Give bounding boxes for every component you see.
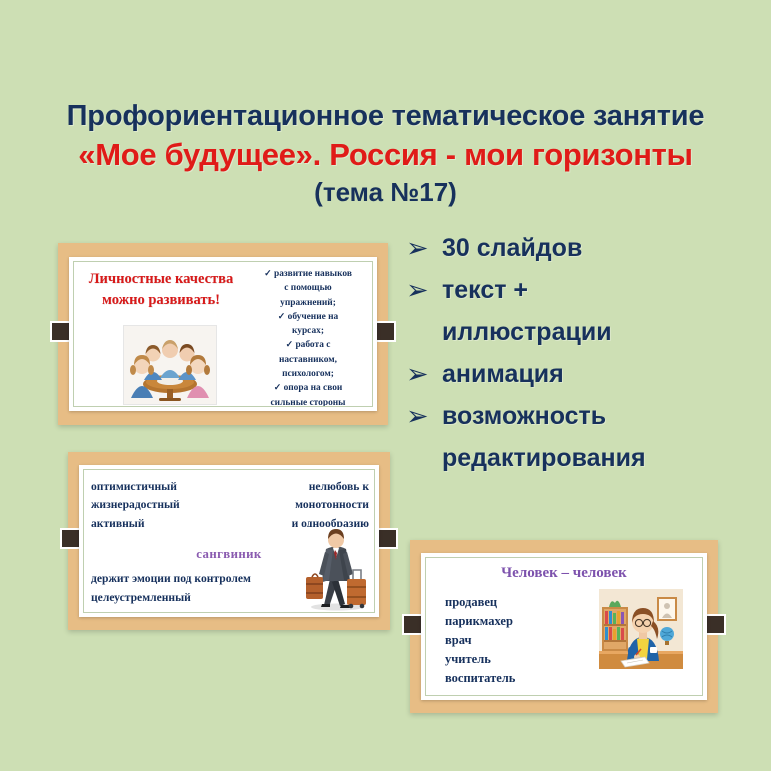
title-line-2: «Мое будущее». Россия - мои горизонты — [0, 137, 771, 173]
list-item-text: опора на свои — [284, 383, 343, 393]
list-item: продавец — [445, 593, 555, 612]
list-item: врач — [445, 631, 555, 650]
feature-label: возможность — [442, 396, 606, 436]
slide3-heading: Человек – человек — [421, 565, 707, 582]
slide1-heading: Личностные качества можно развивать! — [81, 269, 241, 311]
slide-content: Личностные качества можно развивать! — [69, 257, 377, 411]
title-line-3: (тема №17) — [0, 177, 771, 207]
list-item: с помощью — [245, 281, 371, 295]
feature-item-text-cont: иллюстрации — [404, 312, 768, 352]
list-item: ✓ работа с — [245, 338, 371, 352]
feature-label: анимация — [442, 354, 564, 394]
feature-label: редактирования — [442, 438, 646, 478]
list-item: жизнерадостный — [91, 496, 180, 514]
slide-content: Человек – человек продавец парикмахер вр… — [421, 553, 707, 700]
list-item: оптимистичный — [91, 478, 180, 496]
slide-content: оптимистичный жизнерадостный активный не… — [79, 465, 379, 617]
list-item: ✓ опора на свои — [245, 381, 371, 395]
slide2-right-column: нелюбовь к монотонности и однообразию — [292, 478, 369, 533]
arrow-bullet-icon: ➢ — [404, 354, 442, 394]
list-item: активный — [91, 515, 180, 533]
list-item: учитель — [445, 650, 555, 669]
feature-list: ➢ 30 слайдов ➢ текст + иллюстрации ➢ ани… — [404, 228, 768, 480]
list-item-text: работа с — [295, 340, 330, 350]
feature-label: 30 слайдов — [442, 228, 582, 268]
feature-item-slides: ➢ 30 слайдов — [404, 228, 768, 268]
arrow-bullet-icon: ➢ — [404, 396, 442, 436]
feature-item-text: ➢ текст + — [404, 270, 768, 310]
slide2-columns: оптимистичный жизнерадостный активный не… — [91, 478, 369, 533]
check-icon: ✓ — [274, 382, 282, 392]
slide1-photo-children — [123, 325, 217, 405]
feature-item-animation: ➢ анимация — [404, 354, 768, 394]
check-icon: ✓ — [264, 268, 272, 278]
slide2-left-column: оптимистичный жизнерадостный активный — [91, 478, 180, 533]
slide-thumbnail-chelovek-chelovek[interactable]: Человек – человек продавец парикмахер вр… — [410, 540, 718, 713]
list-item-text: обучение на — [288, 312, 339, 322]
feature-label: иллюстрации — [442, 312, 612, 352]
slide3-profession-list: продавец парикмахер врач учитель воспита… — [445, 593, 555, 688]
check-icon: ✓ — [286, 339, 294, 349]
list-item: психологом; — [245, 367, 371, 381]
title-line-1: Профориентационное тематическое занятие — [0, 100, 771, 134]
teacher-at-desk-illustration — [599, 589, 683, 669]
feature-item-editing: ➢ возможность — [404, 396, 768, 436]
list-item: целеустремленный — [91, 589, 301, 608]
slide1-checklist: ✓ развитие навыков с помощью упражнений;… — [245, 267, 371, 410]
slide1-heading-line1: Личностные качества — [81, 269, 241, 290]
slide3-photo-teacher — [599, 589, 683, 669]
list-item: держит эмоции под контролем — [91, 570, 301, 589]
list-item: ✓ развитие навыков — [245, 267, 371, 281]
businessman-with-suitcases-illustration — [297, 527, 373, 613]
arrow-bullet-icon: ➢ — [404, 270, 442, 310]
feature-label: текст + — [442, 270, 528, 310]
list-item: воспитатель — [445, 669, 555, 688]
list-item: наставником, — [245, 353, 371, 367]
children-at-table-illustration — [124, 326, 216, 404]
list-item: курсах; — [245, 324, 371, 338]
slide-thumbnail-personal-qualities[interactable]: Личностные качества можно развивать! — [58, 243, 388, 425]
list-item-text: развитие навыков — [274, 269, 352, 279]
list-item: нелюбовь к — [292, 478, 369, 496]
list-item: монотонности — [292, 496, 369, 514]
list-item: сильные стороны — [245, 396, 371, 410]
slide-thumbnail-sangvinik[interactable]: оптимистичный жизнерадостный активный не… — [68, 452, 390, 630]
slide1-heading-line2: можно развивать! — [81, 290, 241, 311]
check-icon: ✓ — [278, 311, 286, 321]
slide2-photo-businessman — [297, 527, 373, 613]
list-item: упражнений; — [245, 296, 371, 310]
list-item: ✓ обучение на — [245, 310, 371, 324]
feature-item-editing-cont: редактирования — [404, 438, 768, 478]
page-title: Профориентационное тематическое занятие … — [0, 100, 771, 207]
list-item: парикмахер — [445, 612, 555, 631]
arrow-bullet-icon: ➢ — [404, 228, 442, 268]
slide2-bottom-list: держит эмоции под контролем целеустремле… — [91, 570, 301, 607]
